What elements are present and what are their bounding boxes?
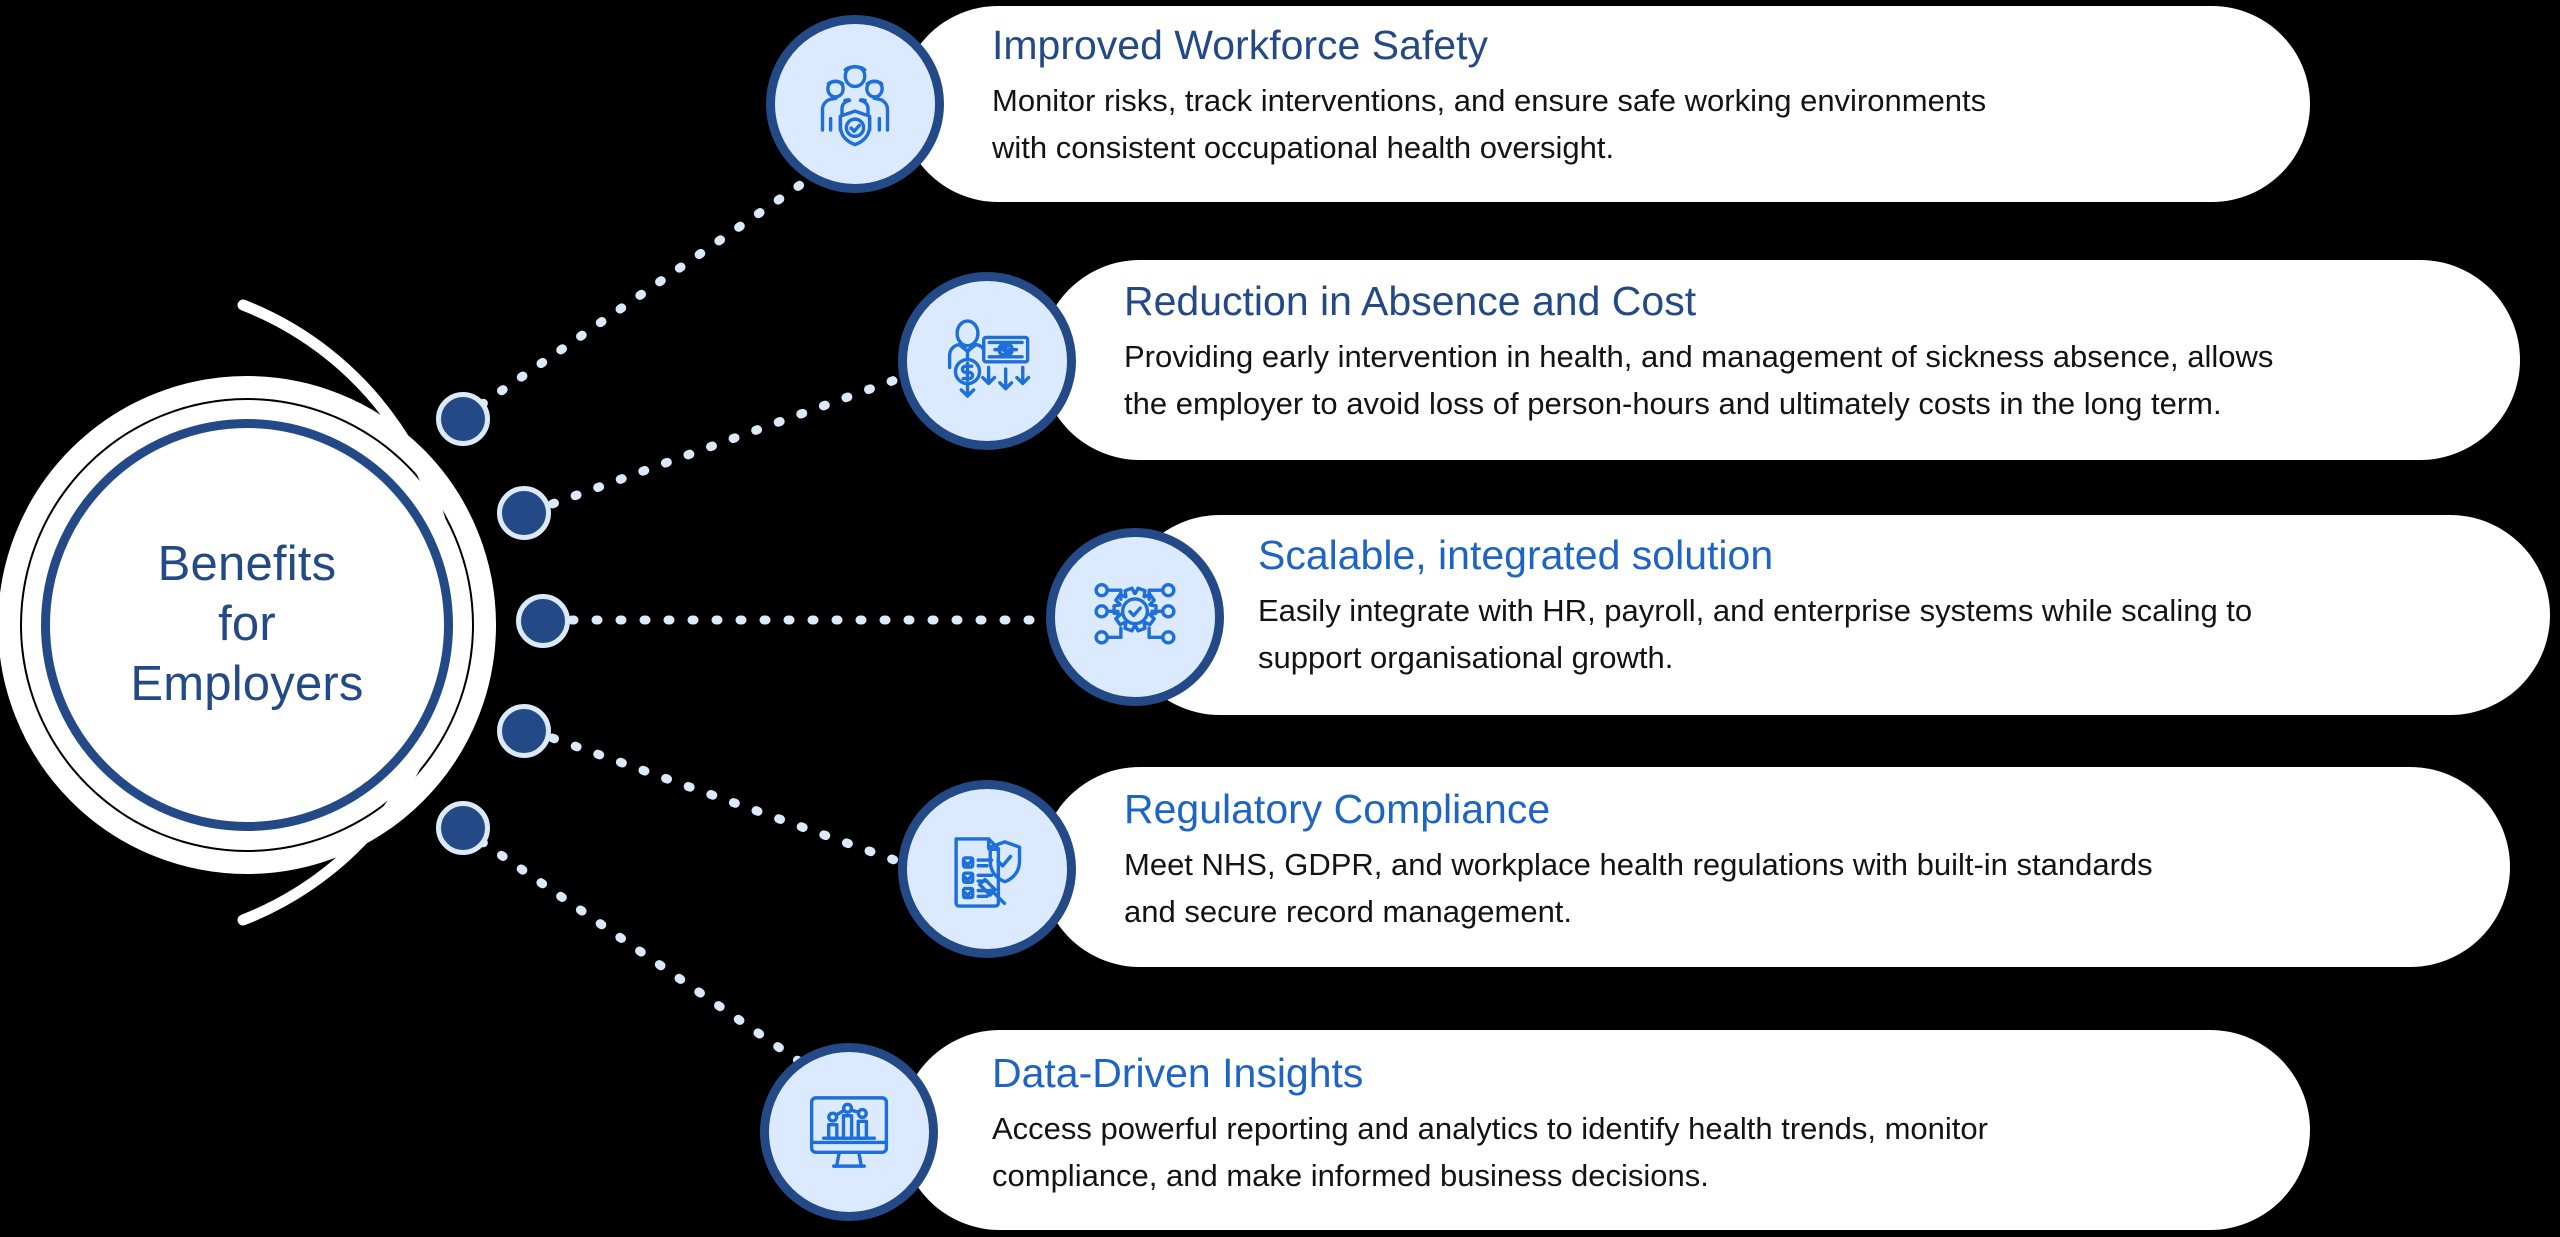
hub-line-2: for <box>130 595 363 655</box>
card-1-title: Improved Workforce Safety <box>992 22 2292 69</box>
node-dot-4[interactable] <box>497 704 551 758</box>
card-1-body-line-1: Monitor risks, track interventions, and … <box>992 78 2292 125</box>
card-3-body-line-2: support organisational growth. <box>1258 635 2548 682</box>
checklist-shield-gavel-icon <box>898 780 1076 958</box>
card-5-body-line-2: compliance, and make informed business d… <box>992 1153 2292 1200</box>
card-1-text: Improved Workforce Safety Monitor risks,… <box>992 22 2292 171</box>
wire-1 <box>462 185 800 418</box>
wire-5 <box>462 828 800 1062</box>
node-dot-3[interactable] <box>516 594 570 648</box>
card-5-text: Data-Driven Insights Access powerful rep… <box>992 1050 2292 1199</box>
wire-2 <box>530 368 928 512</box>
card-5-body-line-1: Access powerful reporting and analytics … <box>992 1106 2292 1153</box>
wire-4 <box>530 730 928 872</box>
card-2-text: Reduction in Absence and Cost Providing … <box>1124 278 2514 427</box>
card-3-title: Scalable, integrated solution <box>1258 532 2548 579</box>
monitor-bar-chart-icon <box>760 1043 938 1221</box>
node-dot-1[interactable] <box>436 392 490 446</box>
infographic-canvas: Benefits for Employers <box>0 0 2560 1237</box>
card-5-title: Data-Driven Insights <box>992 1050 2292 1097</box>
gear-network-check-icon <box>1046 528 1224 706</box>
hub-line-3: Employers <box>130 655 363 715</box>
person-money-down-arrows-icon <box>898 272 1076 450</box>
card-3-body-line-1: Easily integrate with HR, payroll, and e… <box>1258 588 2548 635</box>
hub-line-1: Benefits <box>130 535 363 595</box>
hub-circle: Benefits for Employers <box>22 400 472 850</box>
hub-label: Benefits for Employers <box>130 535 363 714</box>
card-4-body-line-2: and secure record management. <box>1124 889 2504 936</box>
card-4-text: Regulatory Compliance Meet NHS, GDPR, an… <box>1124 786 2504 935</box>
node-dot-2[interactable] <box>497 486 551 540</box>
card-1-body-line-2: with consistent occupational health over… <box>992 125 2292 172</box>
card-3-text: Scalable, integrated solution Easily int… <box>1258 532 2548 681</box>
card-2-body-line-2: the employer to avoid loss of person-hou… <box>1124 381 2514 428</box>
card-2-title: Reduction in Absence and Cost <box>1124 278 2514 325</box>
card-2-body-line-1: Providing early intervention in health, … <box>1124 334 2514 381</box>
card-4-body-line-1: Meet NHS, GDPR, and workplace health reg… <box>1124 842 2504 889</box>
team-shield-check-icon <box>766 15 944 193</box>
card-4-title: Regulatory Compliance <box>1124 786 2504 833</box>
node-dot-5[interactable] <box>436 801 490 855</box>
